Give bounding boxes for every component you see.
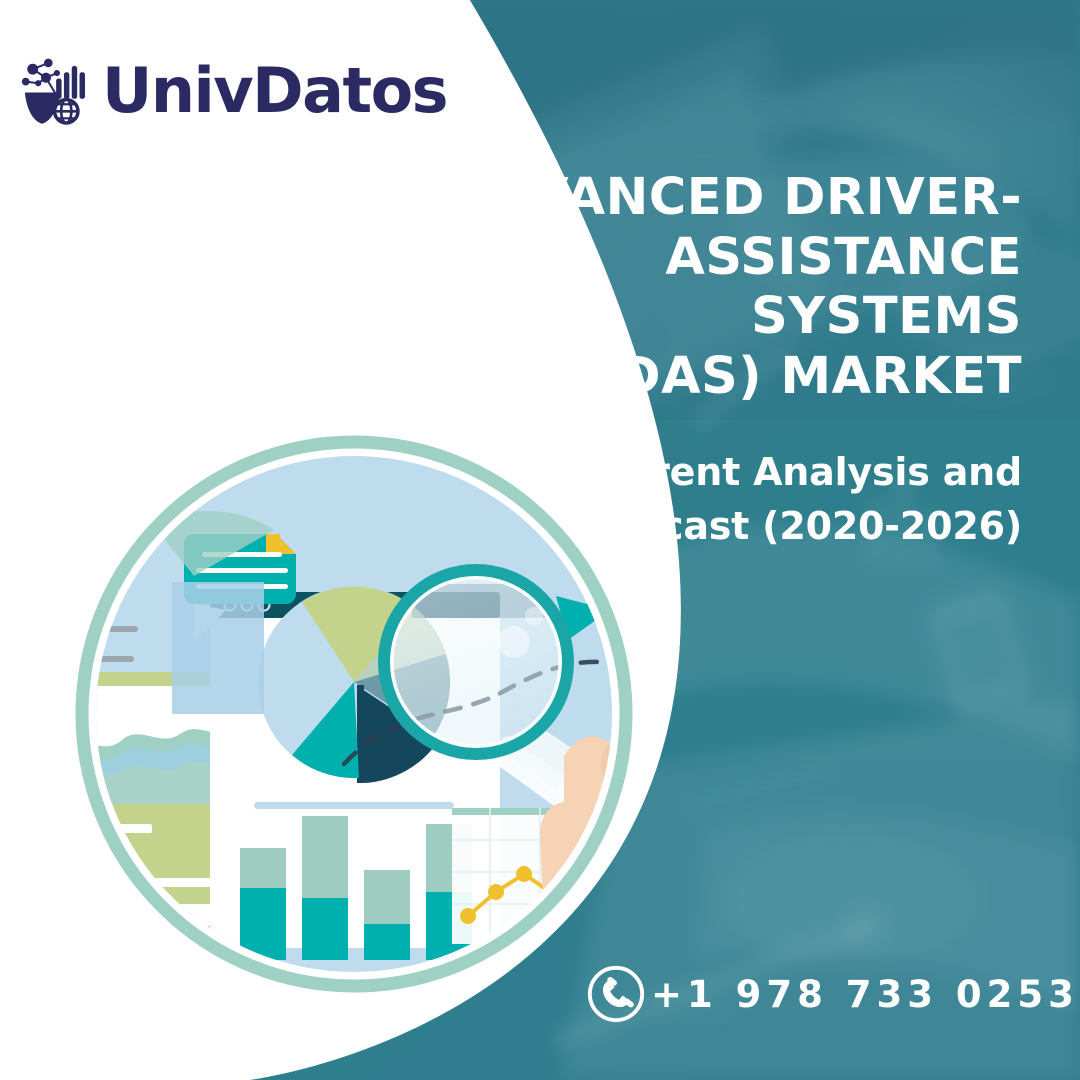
- brand-logo[interactable]: UnivDatos: [14, 52, 447, 130]
- title-line-2: ASSISTANCE SYSTEMS: [402, 228, 1022, 347]
- poster-subtitle: Current Analysis and Forecast (2020-2026…: [552, 446, 1022, 554]
- poster-title: ADVANCED DRIVER- ASSISTANCE SYSTEMS (ADA…: [402, 168, 1022, 407]
- poster-canvas: UnivDatos: [0, 0, 1080, 1080]
- title-line-1: ADVANCED DRIVER-: [402, 168, 1022, 228]
- subtitle-line-2: Forecast (2020-2026): [552, 500, 1022, 554]
- brand-name: UnivDatos: [102, 60, 447, 122]
- network-bars-globe-icon: [14, 52, 92, 130]
- subtitle-line-1: Current Analysis and: [552, 446, 1022, 500]
- phone-number: +1 978 733 0253: [651, 973, 1079, 1016]
- phone-handset-circle-icon: [585, 963, 647, 1025]
- title-line-3: (ADAS) MARKET: [402, 347, 1022, 407]
- contact-phone[interactable]: +1 978 733 0253: [585, 963, 1079, 1025]
